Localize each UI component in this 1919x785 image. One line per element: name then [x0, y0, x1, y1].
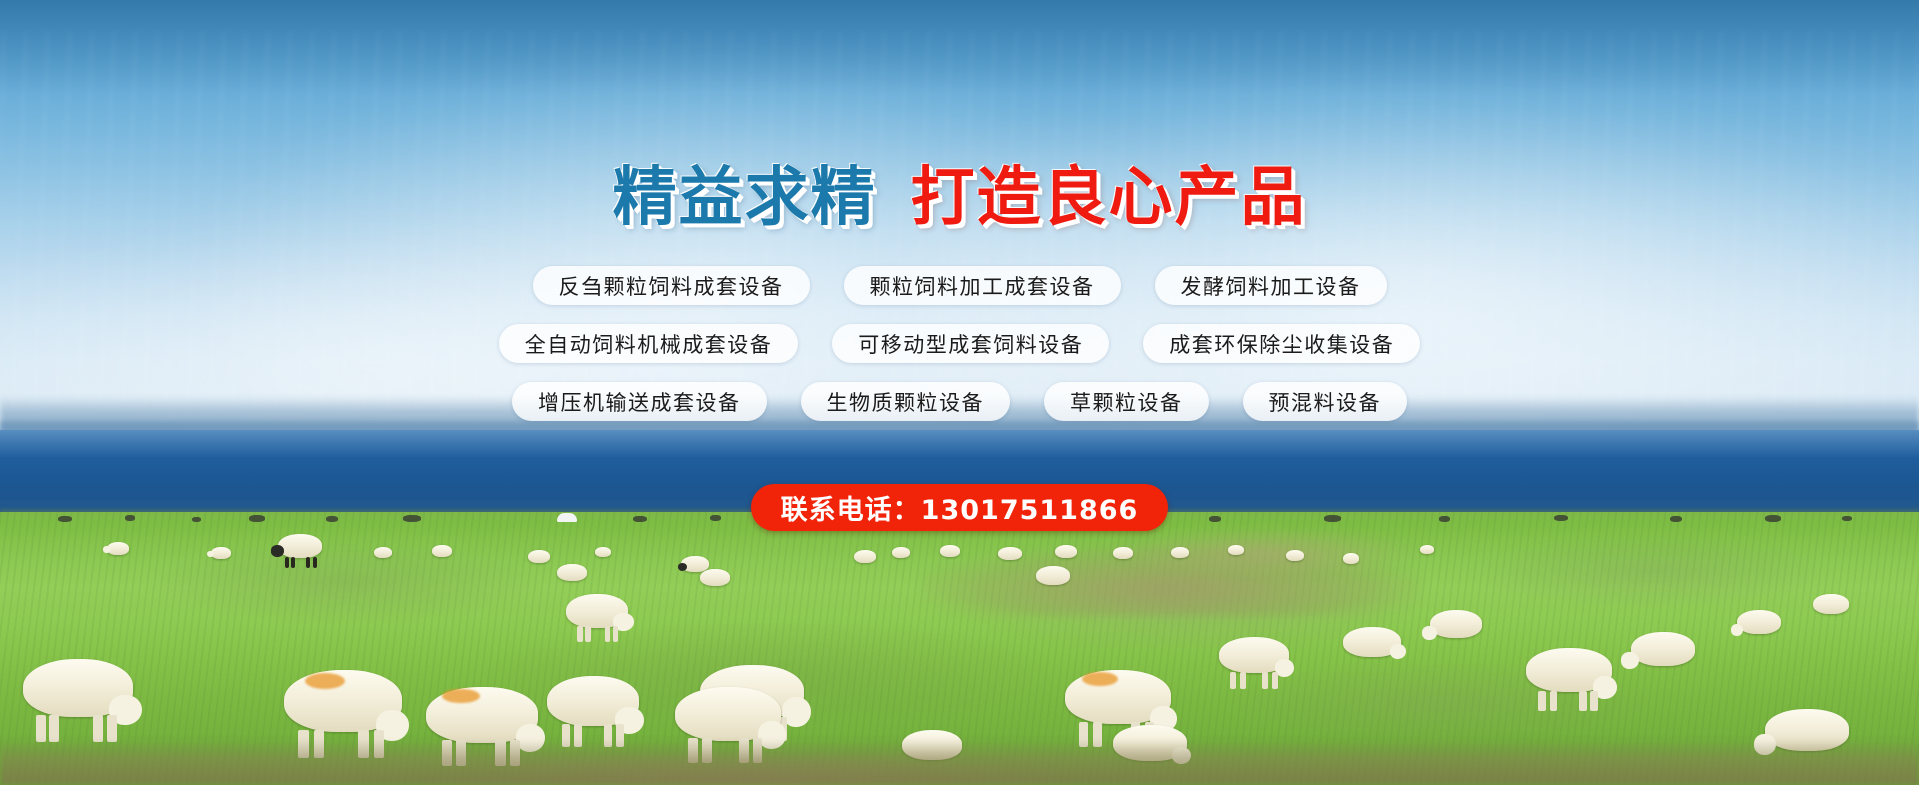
product-pill[interactable]: 生物质颗粒设备 [801, 382, 1011, 421]
product-pill[interactable]: 颗粒饲料加工成套设备 [844, 266, 1121, 305]
headline-part-blue: 精益求精 [613, 161, 877, 235]
product-pill[interactable]: 可移动型成套饲料设备 [832, 324, 1109, 363]
headline-part-red: 打造良心产品 [911, 161, 1307, 235]
banner-overlay: 精益求精打造良心产品 反刍颗粒饲料成套设备 颗粒饲料加工成套设备 发酵饲料加工设… [0, 0, 1919, 785]
product-pill-row-2: 全自动饲料机械成套设备 可移动型成套饲料设备 成套环保除尘收集设备 [499, 324, 1421, 363]
hero-banner: 精益求精打造良心产品 反刍颗粒饲料成套设备 颗粒饲料加工成套设备 发酵饲料加工设… [0, 0, 1919, 785]
banner-headline: 精益求精打造良心产品 [613, 166, 1307, 230]
product-pill[interactable]: 预混料设备 [1243, 382, 1408, 421]
product-pill[interactable]: 成套环保除尘收集设备 [1143, 324, 1420, 363]
product-pill[interactable]: 增压机输送成套设备 [512, 382, 767, 421]
product-pill[interactable]: 反刍颗粒饲料成套设备 [533, 266, 810, 305]
product-pill[interactable]: 发酵饲料加工设备 [1155, 266, 1387, 305]
product-pill-row-3: 增压机输送成套设备 生物质颗粒设备 草颗粒设备 预混料设备 [512, 382, 1407, 421]
product-pill-list: 反刍颗粒饲料成套设备 颗粒饲料加工成套设备 发酵饲料加工设备 全自动饲料机械成套… [499, 266, 1421, 421]
product-pill[interactable]: 全自动饲料机械成套设备 [499, 324, 799, 363]
contact-phone-badge[interactable]: 联系电话：13017511866 [751, 484, 1169, 531]
product-pill-row-1: 反刍颗粒饲料成套设备 颗粒饲料加工成套设备 发酵饲料加工设备 [533, 266, 1387, 305]
product-pill[interactable]: 草颗粒设备 [1044, 382, 1209, 421]
